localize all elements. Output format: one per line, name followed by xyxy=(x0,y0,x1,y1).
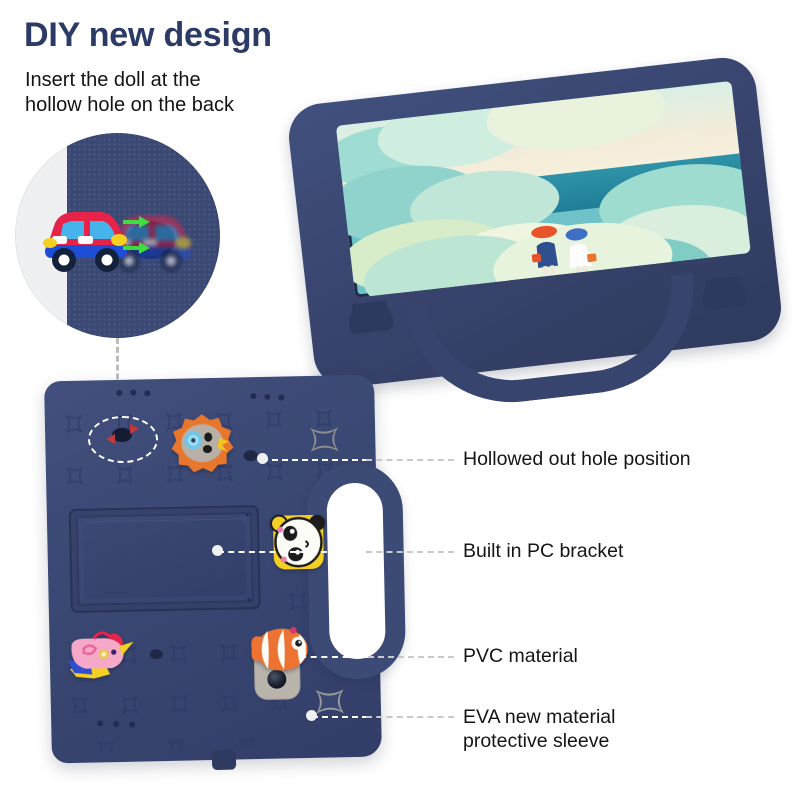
leader-line-eva xyxy=(366,716,454,718)
speaker-hole xyxy=(144,390,150,396)
kickstand-pin xyxy=(246,513,249,516)
speaker-hole xyxy=(250,393,256,399)
infographic-page: DIY new design Insert the doll at the ho… xyxy=(0,0,800,800)
tablet-front-view xyxy=(285,54,784,390)
kickstand-pin xyxy=(248,598,251,601)
leader-dot-hollow-hole xyxy=(257,453,268,464)
speaker-hole xyxy=(130,390,136,396)
page-subtitle: Insert the doll at the hollow hole on th… xyxy=(25,68,275,118)
corner-bumper-bottom-icon xyxy=(313,687,344,714)
doll-hole-arrow-left-icon xyxy=(106,434,115,444)
leader-dot-eva xyxy=(306,710,317,721)
leader-line-hollow-hole-dark xyxy=(262,459,368,461)
speaker-hole xyxy=(129,722,135,728)
speaker-hole xyxy=(278,394,284,400)
callout-label-eva-sleeve: EVA new material protective sleeve xyxy=(463,705,615,753)
callout-label-hollow-hole: Hollowed out hole position xyxy=(463,447,691,471)
sticker-unicorn-icon xyxy=(63,624,136,685)
corner-bumper-top-icon xyxy=(307,425,338,452)
tablet-bumper-left-icon xyxy=(352,300,389,334)
sticker-lion-icon xyxy=(167,411,238,476)
leader-line-hollow-hole xyxy=(366,459,454,461)
doll-hole-arrow-right-icon xyxy=(130,424,139,434)
speaker-hole xyxy=(97,720,103,726)
callout-label-pc-bracket: Built in PC bracket xyxy=(463,539,623,563)
port-flap xyxy=(212,750,236,770)
inset-ring xyxy=(15,133,220,338)
pc-bracket-kickstand[interactable] xyxy=(69,505,261,613)
page-title: DIY new design xyxy=(24,16,272,55)
leader-line-pc-bracket-dark xyxy=(218,551,368,553)
callout-label-pvc-material: PVC material xyxy=(463,644,578,668)
speaker-hole xyxy=(116,390,122,396)
leader-line-pvc-dark xyxy=(300,656,370,658)
speaker-hole xyxy=(113,721,119,727)
subtitle-line-2: hollow hole on the back xyxy=(25,93,275,118)
leader-line-pc-bracket xyxy=(366,551,454,553)
sticker-clownfish-icon xyxy=(247,622,312,679)
doll-hole-opening xyxy=(112,428,132,442)
leader-dot-pc-bracket xyxy=(212,545,223,556)
leader-line-pvc xyxy=(368,656,454,658)
speaker-hole xyxy=(264,394,270,400)
doll-insertion-inset xyxy=(15,133,220,338)
subtitle-line-1: Insert the doll at the xyxy=(25,68,275,93)
kickstand-panel xyxy=(83,518,247,598)
sticker-panda-icon xyxy=(265,509,332,576)
leader-line-eva-dark xyxy=(312,716,368,718)
tablet-bumper-right-icon xyxy=(706,276,743,310)
